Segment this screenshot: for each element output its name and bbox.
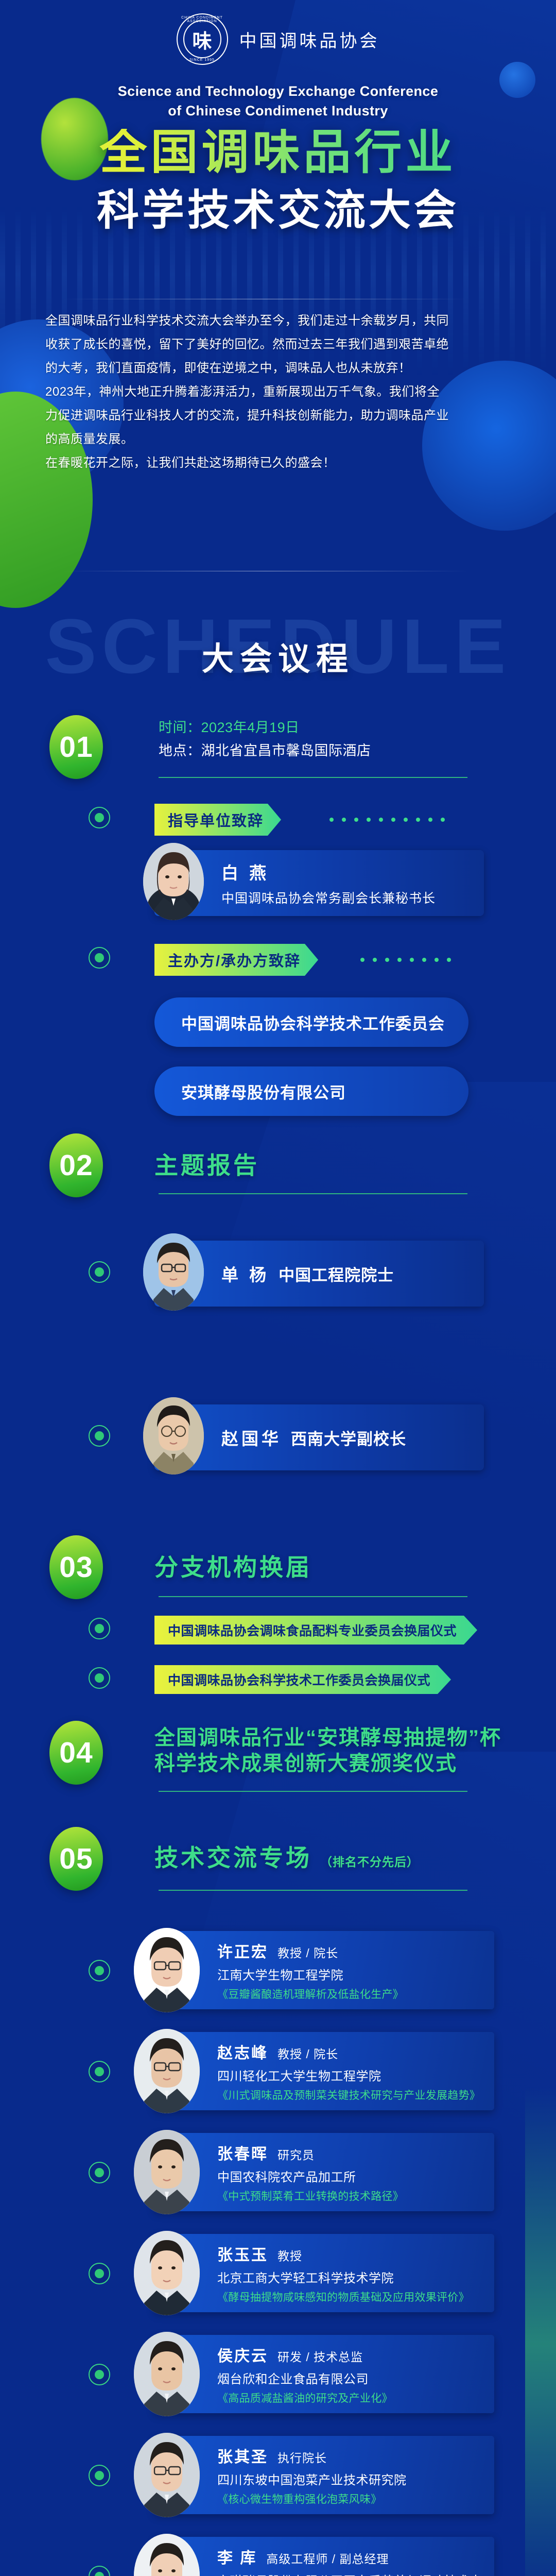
expert-headline: 许正宏 教授 / 院长 bbox=[217, 1939, 489, 1962]
avatar bbox=[134, 2534, 200, 2576]
host-org-1: 中国调味品协会科学技术工作委员会 bbox=[154, 997, 468, 1047]
expert-card: 侯庆云 研发 / 技术总监 烟台欣和企业食品有限公司 《高品质减盐酱油的研究及产… bbox=[154, 2335, 494, 2413]
timeline-dot-host bbox=[89, 947, 110, 969]
section-rule-01 bbox=[159, 777, 467, 778]
seal-ring-bottom-text: · SINCE 1995 · bbox=[178, 58, 227, 62]
avatar bbox=[134, 2332, 200, 2416]
expert-text: 李 库 高级工程师 / 副总经理 安琪酵母股份有限公司蛋白质营养与调味技术中心 … bbox=[217, 2545, 489, 2576]
expert-text: 张其圣 执行院长 四川东坡中国泡菜产业技术研究院 《核心微生物重构强化泡菜风味》 bbox=[217, 2444, 489, 2506]
portrait-image bbox=[134, 2231, 200, 2315]
chip-host-speech: 主办方/承办方致辞 bbox=[154, 944, 318, 976]
expert-org: 江南大学生物工程学院 bbox=[217, 1965, 489, 1983]
expert-name: 张春晖 bbox=[217, 2141, 268, 2164]
section-rule-04 bbox=[159, 1791, 467, 1792]
expert-title: 教授 / 院长 bbox=[277, 1943, 338, 1961]
portrait-image bbox=[134, 2130, 200, 2214]
portrait-image bbox=[134, 2534, 200, 2576]
intro-line-3: 在春暖花开之际，让我们共赴这场期待已久的盛会！ bbox=[45, 451, 452, 475]
speaker-role: 西南大学副校长 bbox=[291, 1426, 406, 1449]
dots-trail-host bbox=[360, 957, 451, 962]
intro-line-2: 2023年，神州大地正升腾着澎湃活力，重新展现出万千气象。我们将全力促进调味品行… bbox=[45, 380, 452, 451]
timeline-dot-expert-2 bbox=[89, 2061, 110, 2082]
speaker-role: 中国调味品协会常务副会长兼秘书长 bbox=[221, 888, 477, 907]
english-title-line1: Science and Technology Exchange Conferen… bbox=[0, 81, 556, 101]
timeline-dot-keynote-2 bbox=[89, 1425, 110, 1447]
award-heading: 全国调味品行业“安琪酵母抽提物”杯 科学技术成果创新大赛颁奖仪式 bbox=[154, 1725, 501, 1776]
chinese-title-line2: 科学技术交流大会 bbox=[0, 190, 556, 232]
poster-root: CHINA CONDIMENT ASSOCIATION 味 · SINCE 19… bbox=[0, 0, 556, 2576]
expert-text: 张春晖 研究员 中国农科院农产品加工所 《中式预制菜肴工业转换的技术路径》 bbox=[217, 2141, 489, 2204]
expert-headline: 侯庆云 研发 / 技术总监 bbox=[217, 2343, 489, 2366]
expert-card: 张其圣 执行院长 四川东坡中国泡菜产业技术研究院 《核心微生物重构强化泡菜风味》 bbox=[154, 2436, 494, 2514]
chip-guidance-speech: 指导单位致辞 bbox=[154, 804, 281, 836]
seal-center-glyph: 味 bbox=[178, 14, 227, 64]
section-heading-05-note: （排名不分先后） bbox=[320, 1855, 419, 1869]
keynote-speaker-card-2: 赵国华 西南大学副校长 bbox=[154, 1404, 484, 1470]
intro-line-1: 全国调味品行业科学技术交流大会举办至今，我们走过十余载岁月，共同收获了成长的喜悦… bbox=[45, 309, 452, 380]
expert-topic: 《酵母抽提物咸味感知的物质基础及应用效果评价》 bbox=[217, 2289, 489, 2304]
divider-top bbox=[62, 299, 468, 299]
section-number-01: 01 bbox=[49, 715, 103, 779]
speaker-name: 单 杨 bbox=[221, 1261, 269, 1286]
expert-name: 侯庆云 bbox=[217, 2343, 268, 2366]
timeline-dot-expert-4 bbox=[89, 2263, 110, 2284]
speaker-text: 赵国华 西南大学副校长 bbox=[221, 1404, 477, 1470]
avatar bbox=[134, 2231, 200, 2315]
expert-headline: 李 库 高级工程师 / 副总经理 bbox=[217, 2545, 489, 2568]
section-heading-02: 主题报告 bbox=[154, 1147, 259, 1181]
section-heading-05: 技术交流专场（排名不分先后） bbox=[154, 1839, 419, 1873]
expert-text: 张玉玉 教授 北京工商大学轻工科学技术学院 《酵母抽提物咸味感知的物质基础及应用… bbox=[217, 2242, 489, 2304]
expert-headline: 赵志峰 教授 / 院长 bbox=[217, 2040, 489, 2063]
timeline-dot-branch-1 bbox=[89, 1618, 110, 1639]
section-heading-03: 分支机构换届 bbox=[154, 1549, 312, 1583]
expert-card: 赵志峰 教授 / 院长 四川轻化工大学生物工程学院 《川式调味品及预制菜关键技术… bbox=[154, 2032, 494, 2110]
chinese-title-line1: 全国调味品行业 bbox=[0, 129, 556, 176]
expert-title: 执行院长 bbox=[277, 2448, 327, 2466]
english-title-line2: of Chinese Condimenet Industry bbox=[0, 101, 556, 121]
event-time: 时间：2023年4月19日 bbox=[159, 716, 371, 739]
guidance-speaker-card: 白 燕 中国调味品协会常务副会长兼秘书长 bbox=[154, 850, 484, 916]
expert-headline: 张其圣 执行院长 bbox=[217, 2444, 489, 2467]
avatar bbox=[134, 2029, 200, 2113]
timeline-dot-expert-3 bbox=[89, 2162, 110, 2183]
avatar bbox=[134, 2130, 200, 2214]
speaker-line: 赵国华 西南大学副校长 bbox=[221, 1425, 477, 1450]
portrait-image bbox=[134, 2029, 200, 2113]
avatar bbox=[143, 843, 204, 920]
timeline-dot-expert-6 bbox=[89, 2465, 110, 2486]
section-number-05: 05 bbox=[49, 1827, 103, 1891]
brand-name: 中国调味品协会 bbox=[239, 27, 380, 52]
speaker-name: 赵国华 bbox=[221, 1425, 282, 1450]
expert-name: 赵志峰 bbox=[217, 2040, 268, 2063]
english-title: Science and Technology Exchange Conferen… bbox=[0, 81, 556, 121]
award-heading-line2: 科学技术成果创新大赛颁奖仪式 bbox=[154, 1751, 501, 1776]
avatar bbox=[143, 1397, 204, 1475]
branch-item-1: 中国调味品协会调味食品配料专业委员会换届仪式 bbox=[154, 1616, 477, 1645]
expert-title: 研究员 bbox=[277, 2145, 315, 2163]
green-edge-decoration bbox=[525, 2087, 556, 2576]
section-rule-05 bbox=[159, 1890, 467, 1891]
expert-text: 许正宏 教授 / 院长 江南大学生物工程学院 《豆瓣酱酿造机理解析及低盐化生产》 bbox=[217, 1939, 489, 2002]
expert-title: 教授 / 院长 bbox=[277, 2044, 338, 2062]
expert-title: 研发 / 技术总监 bbox=[277, 2347, 363, 2365]
section-heading-05-text: 技术交流专场 bbox=[154, 1844, 312, 1871]
expert-name: 张玉玉 bbox=[217, 2242, 268, 2265]
timeline-dot-expert-1 bbox=[89, 1960, 110, 1981]
avatar bbox=[134, 1928, 200, 2012]
expert-org: 四川轻化工大学生物工程学院 bbox=[217, 2066, 489, 2084]
expert-org: 四川东坡中国泡菜产业技术研究院 bbox=[217, 2470, 489, 2488]
section-number-02: 02 bbox=[49, 1133, 103, 1197]
award-heading-line1: 全国调味品行业“安琪酵母抽提物”杯 bbox=[154, 1725, 501, 1751]
speaker-text: 单 杨 中国工程院院士 bbox=[221, 1241, 477, 1307]
keynote-speaker-card-1: 单 杨 中国工程院院士 bbox=[154, 1241, 484, 1307]
expert-text: 侯庆云 研发 / 技术总监 烟台欣和企业食品有限公司 《高品质减盐酱油的研究及产… bbox=[217, 2343, 489, 2405]
section-rule-03 bbox=[159, 1596, 467, 1597]
expert-topic: 《高品质减盐酱油的研究及产业化》 bbox=[217, 2390, 489, 2405]
brand-header: CHINA CONDIMENT ASSOCIATION 味 · SINCE 19… bbox=[0, 13, 556, 65]
expert-name: 李 库 bbox=[217, 2545, 257, 2568]
schedule-title: 大会议程 bbox=[0, 633, 556, 679]
speaker-role: 中国工程院院士 bbox=[279, 1262, 394, 1285]
speaker-name: 白 燕 bbox=[221, 859, 477, 884]
expert-org: 安琪酵母股份有限公司蛋白质营养与调味技术中心 bbox=[217, 2571, 489, 2576]
portrait-image bbox=[143, 843, 204, 920]
portrait-image bbox=[134, 1928, 200, 2012]
section-rule-02 bbox=[159, 1193, 467, 1194]
section-number-04: 04 bbox=[49, 1721, 103, 1785]
expert-card: 许正宏 教授 / 院长 江南大学生物工程学院 《豆瓣酱酿造机理解析及低盐化生产》 bbox=[154, 1931, 494, 2009]
portrait-image bbox=[143, 1233, 204, 1311]
portrait-image bbox=[134, 2433, 200, 2517]
divider-bottom bbox=[62, 571, 468, 571]
expert-topic: 《核心微生物重构强化泡菜风味》 bbox=[217, 2491, 489, 2506]
expert-org: 中国农科院农产品加工所 bbox=[217, 2167, 489, 2185]
expert-topic: 《豆瓣酱酿造机理解析及低盐化生产》 bbox=[217, 1986, 489, 2002]
event-meta: 时间：2023年4月19日 地点：湖北省宜昌市馨岛国际酒店 bbox=[159, 716, 371, 762]
speaker-text: 白 燕 中国调味品协会常务副会长兼秘书长 bbox=[221, 850, 477, 916]
expert-card: 李 库 高级工程师 / 副总经理 安琪酵母股份有限公司蛋白质营养与调味技术中心 … bbox=[154, 2537, 494, 2576]
expert-headline: 张玉玉 教授 bbox=[217, 2242, 489, 2265]
timeline-dot-expert-5 bbox=[89, 2364, 110, 2385]
expert-title: 教授 bbox=[277, 2246, 302, 2264]
expert-text: 赵志峰 教授 / 院长 四川轻化工大学生物工程学院 《川式调味品及预制菜关键技术… bbox=[217, 2040, 489, 2103]
section-number-03: 03 bbox=[49, 1535, 103, 1599]
avatar bbox=[143, 1233, 204, 1311]
expert-card: 张玉玉 教授 北京工商大学轻工科学技术学院 《酵母抽提物咸味感知的物质基础及应用… bbox=[154, 2234, 494, 2312]
expert-title: 高级工程师 / 副总经理 bbox=[266, 2549, 389, 2567]
expert-org: 北京工商大学轻工科学技术学院 bbox=[217, 2268, 489, 2286]
portrait-image bbox=[134, 2332, 200, 2416]
timeline-dot-branch-2 bbox=[89, 1667, 110, 1689]
host-org-2: 安琪酵母股份有限公司 bbox=[154, 1066, 468, 1116]
branch-item-2: 中国调味品协会科学技术工作委员会换届仪式 bbox=[154, 1665, 451, 1694]
expert-card: 张春晖 研究员 中国农科院农产品加工所 《中式预制菜肴工业转换的技术路径》 bbox=[154, 2133, 494, 2211]
intro-paragraph: 全国调味品行业科学技术交流大会举办至今，我们走过十余载岁月，共同收获了成长的喜悦… bbox=[45, 309, 452, 476]
avatar bbox=[134, 2433, 200, 2517]
speaker-line: 单 杨 中国工程院院士 bbox=[221, 1261, 477, 1286]
expert-name: 许正宏 bbox=[217, 1939, 268, 1962]
expert-topic: 《中式预制菜肴工业转换的技术路径》 bbox=[217, 2188, 489, 2204]
expert-topic: 《川式调味品及预制菜关键技术研究与产业发展趋势》 bbox=[217, 2087, 489, 2103]
dots-trail-guidance bbox=[329, 817, 445, 822]
timeline-dot-expert-7 bbox=[89, 2566, 110, 2576]
timeline-dot-guidance bbox=[89, 807, 110, 828]
expert-org: 烟台欣和企业食品有限公司 bbox=[217, 2369, 489, 2387]
expert-headline: 张春晖 研究员 bbox=[217, 2141, 489, 2164]
expert-name: 张其圣 bbox=[217, 2444, 268, 2467]
association-seal-icon: CHINA CONDIMENT ASSOCIATION 味 · SINCE 19… bbox=[177, 13, 228, 65]
timeline-dot-keynote-1 bbox=[89, 1261, 110, 1283]
event-location: 地点：湖北省宜昌市馨岛国际酒店 bbox=[159, 739, 371, 762]
portrait-image bbox=[143, 1397, 204, 1475]
